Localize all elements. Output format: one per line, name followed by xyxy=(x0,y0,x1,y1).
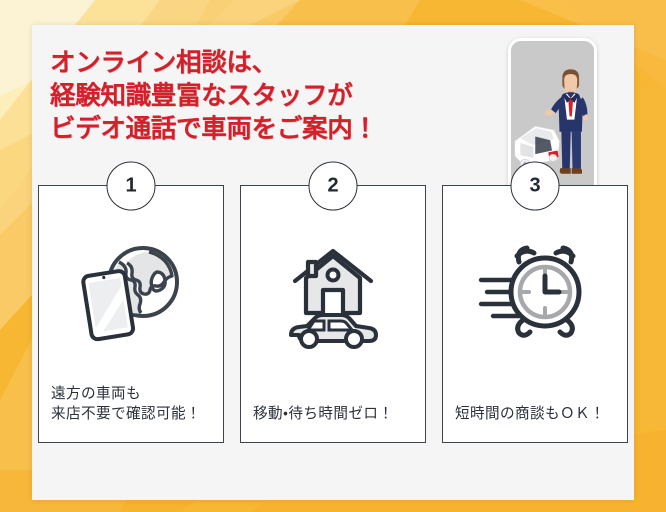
card-icon-2 xyxy=(241,222,425,362)
feature-card-list: 1 xyxy=(38,185,628,443)
main-panel: オンライン相談は、 経験知識豊富なスタッフが ビデオ通話で車両をご案内！ xyxy=(32,25,634,500)
card-text-2: 移動・待ち時間ゼロ！ xyxy=(253,404,417,424)
headline-line-3: ビデオ通話で車両をご案内！ xyxy=(50,113,378,146)
feature-card-1[interactable]: 1 xyxy=(38,185,224,443)
card-icon-1 xyxy=(39,222,223,362)
house-icon xyxy=(295,251,371,313)
card-icon-3 xyxy=(443,222,627,362)
card-text-3: 短時間の商談もＯＫ！ xyxy=(455,404,619,424)
car-icon xyxy=(291,315,376,347)
page-title: オンライン相談は、 経験知識豊富なスタッフが ビデオ通話で車両をご案内！ xyxy=(50,47,378,146)
card-1-line-1: 遠方の車両も xyxy=(51,384,215,404)
headline-line-2: 経験知識豊富なスタッフが xyxy=(50,80,378,113)
card-number-badge-2: 2 xyxy=(309,162,358,211)
headline-line-1: オンライン相談は、 xyxy=(50,47,378,80)
house-car-icon xyxy=(277,234,389,350)
card-text-1: 遠方の車両も 来店不要で確認可能！ xyxy=(51,384,215,424)
card-2-line-1: 移動・待ち時間ゼロ！ xyxy=(253,404,417,424)
feature-card-2[interactable]: 2 xyxy=(240,185,426,443)
feature-card-3[interactable]: 3 xyxy=(442,185,628,443)
globe-smartphone-icon xyxy=(75,240,187,344)
card-1-line-2: 来店不要で確認可能！ xyxy=(51,404,215,424)
card-number-badge-1: 1 xyxy=(107,162,156,211)
card-number-badge-3: 3 xyxy=(511,162,560,211)
card-3-line-1: 短時間の商談もＯＫ！ xyxy=(455,404,619,424)
alarm-clock-speed-icon xyxy=(477,242,593,342)
